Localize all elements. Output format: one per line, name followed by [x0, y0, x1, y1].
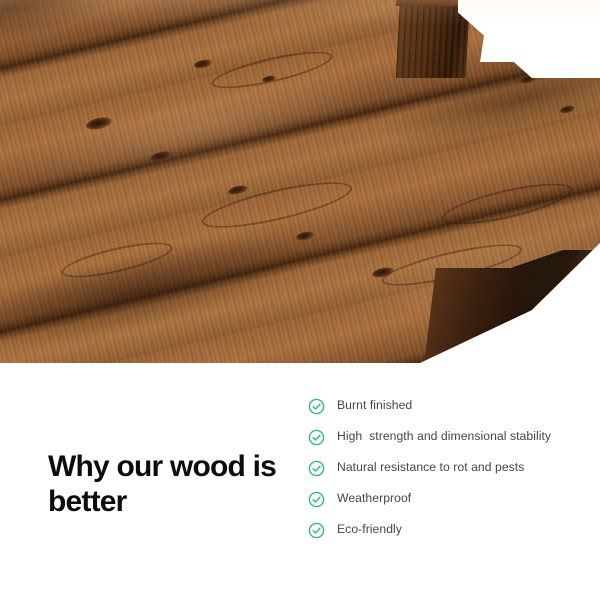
list-item: Burnt finished [308, 397, 588, 415]
page-title: Why our wood is better [48, 449, 298, 520]
product-feature-banner: Why our wood is better Burnt finished [0, 0, 600, 600]
list-item-label: High strength and dimensional stability [337, 428, 551, 446]
list-item: Eco-friendly [308, 521, 588, 539]
wood-post-top [396, 0, 469, 6]
wood-photo [0, 0, 600, 363]
feature-list: Burnt finished High strength and dimensi… [308, 397, 588, 552]
list-item-label: Burnt finished [337, 397, 412, 415]
list-item: Natural resistance to rot and pests [308, 459, 588, 477]
check-circle-icon [308, 429, 325, 446]
list-item: Weatherproof [308, 490, 588, 508]
list-item-label: Weatherproof [337, 490, 411, 508]
check-circle-icon [308, 522, 325, 539]
list-item: High strength and dimensional stability [308, 428, 588, 446]
list-item-label: Eco-friendly [337, 521, 402, 539]
photo-corner-cut-top-right-secondary [480, 0, 600, 62]
feature-section: Why our wood is better Burnt finished [0, 363, 600, 600]
check-circle-icon [308, 398, 325, 415]
check-circle-icon [308, 491, 325, 508]
check-circle-icon [308, 460, 325, 477]
list-item-label: Natural resistance to rot and pests [337, 459, 524, 477]
